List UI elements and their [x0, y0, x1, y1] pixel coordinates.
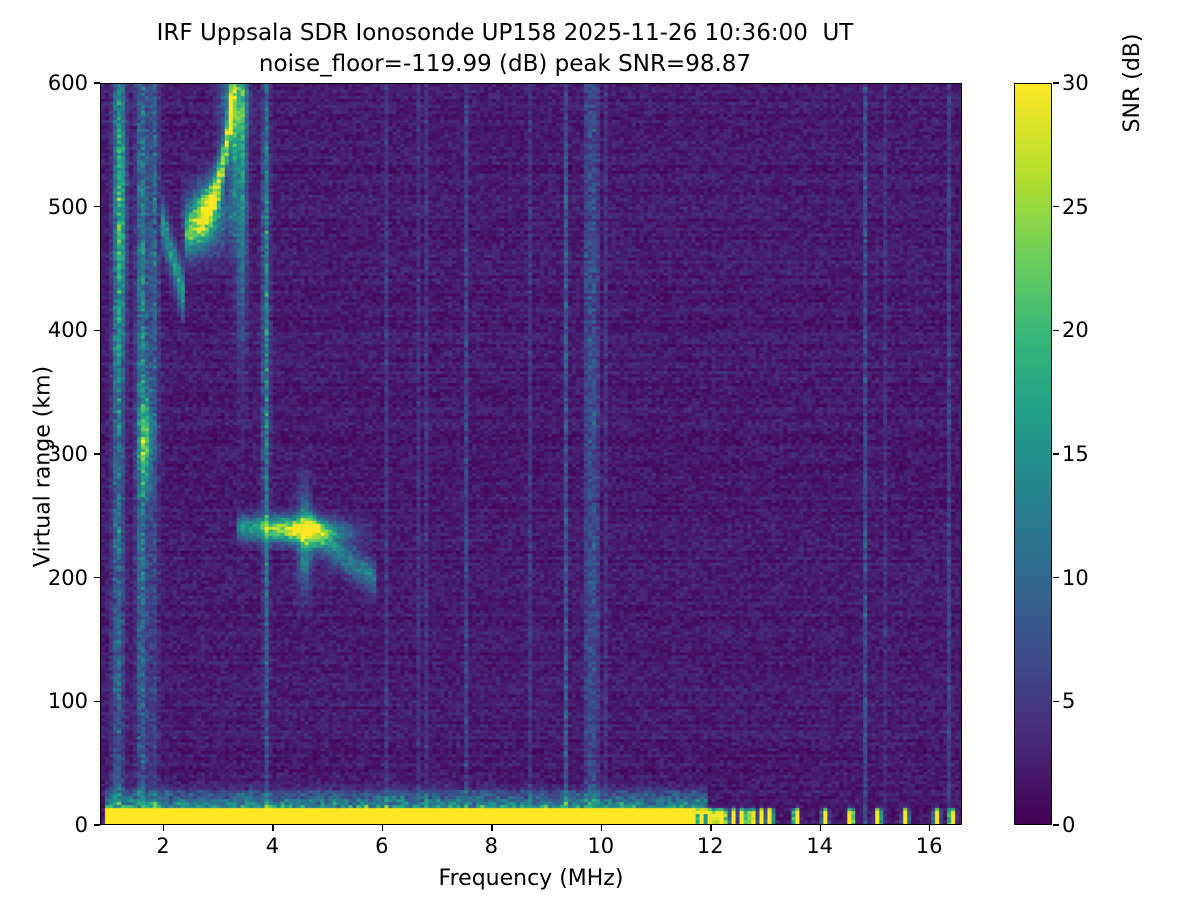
colorbar: [1014, 83, 1052, 825]
colorbar-tick: [1053, 206, 1059, 207]
colorbar-tick-label: 5: [1062, 689, 1075, 713]
x-tick: [710, 825, 711, 831]
x-tick: [163, 825, 164, 831]
x-tick: [929, 825, 930, 831]
x-tick-label: 2: [156, 834, 169, 858]
colorbar-tick-label: 10: [1062, 566, 1089, 590]
colorbar-tick-label: 15: [1062, 442, 1089, 466]
colorbar-label: SNR (dB): [1120, 0, 1145, 454]
x-tick-label: 16: [916, 834, 943, 858]
y-tick-label: 100: [48, 689, 88, 713]
x-tick-label: 12: [697, 834, 724, 858]
colorbar-tick-label: 30: [1062, 71, 1089, 95]
colorbar-tick: [1053, 330, 1059, 331]
y-tick-label: 400: [48, 318, 88, 342]
ionogram-plot-area[interactable]: [100, 83, 962, 825]
colorbar-tick-label: 0: [1062, 813, 1075, 837]
ionogram-heatmap: [101, 84, 961, 824]
x-tick-label: 6: [375, 834, 388, 858]
colorbar-tick-label: 20: [1062, 318, 1089, 342]
y-tick: [94, 330, 100, 331]
x-tick: [601, 825, 602, 831]
x-tick-label: 4: [266, 834, 279, 858]
colorbar-tick: [1053, 701, 1059, 702]
colorbar-tick: [1053, 453, 1059, 454]
x-axis-label: Frequency (MHz): [100, 866, 962, 891]
y-tick-label: 600: [48, 71, 88, 95]
y-tick: [94, 824, 100, 825]
y-tick-label: 200: [48, 566, 88, 590]
y-tick: [94, 82, 100, 83]
colorbar-tick-label: 25: [1062, 195, 1089, 219]
colorbar-gradient: [1015, 84, 1051, 824]
figure-title: IRF Uppsala SDR Ionosonde UP158 2025-11-…: [0, 18, 1010, 49]
y-tick: [94, 453, 100, 454]
colorbar-tick: [1053, 824, 1059, 825]
x-tick: [272, 825, 273, 831]
x-tick: [820, 825, 821, 831]
figure-subtitle: noise_floor=-119.99 (dB) peak SNR=98.87: [0, 49, 1010, 80]
x-tick-label: 8: [485, 834, 498, 858]
y-tick-label: 0: [75, 813, 88, 837]
x-tick-label: 10: [587, 834, 614, 858]
x-tick-label: 14: [806, 834, 833, 858]
colorbar-tick: [1053, 577, 1059, 578]
figure-title-block: IRF Uppsala SDR Ionosonde UP158 2025-11-…: [0, 18, 1010, 80]
y-tick: [94, 701, 100, 702]
ionogram-figure: IRF Uppsala SDR Ionosonde UP158 2025-11-…: [0, 0, 1200, 900]
y-tick: [94, 577, 100, 578]
x-tick: [491, 825, 492, 831]
x-tick: [382, 825, 383, 831]
y-tick: [94, 206, 100, 207]
y-tick-label: 500: [48, 195, 88, 219]
colorbar-tick: [1053, 82, 1059, 83]
y-tick-label: 300: [48, 442, 88, 466]
